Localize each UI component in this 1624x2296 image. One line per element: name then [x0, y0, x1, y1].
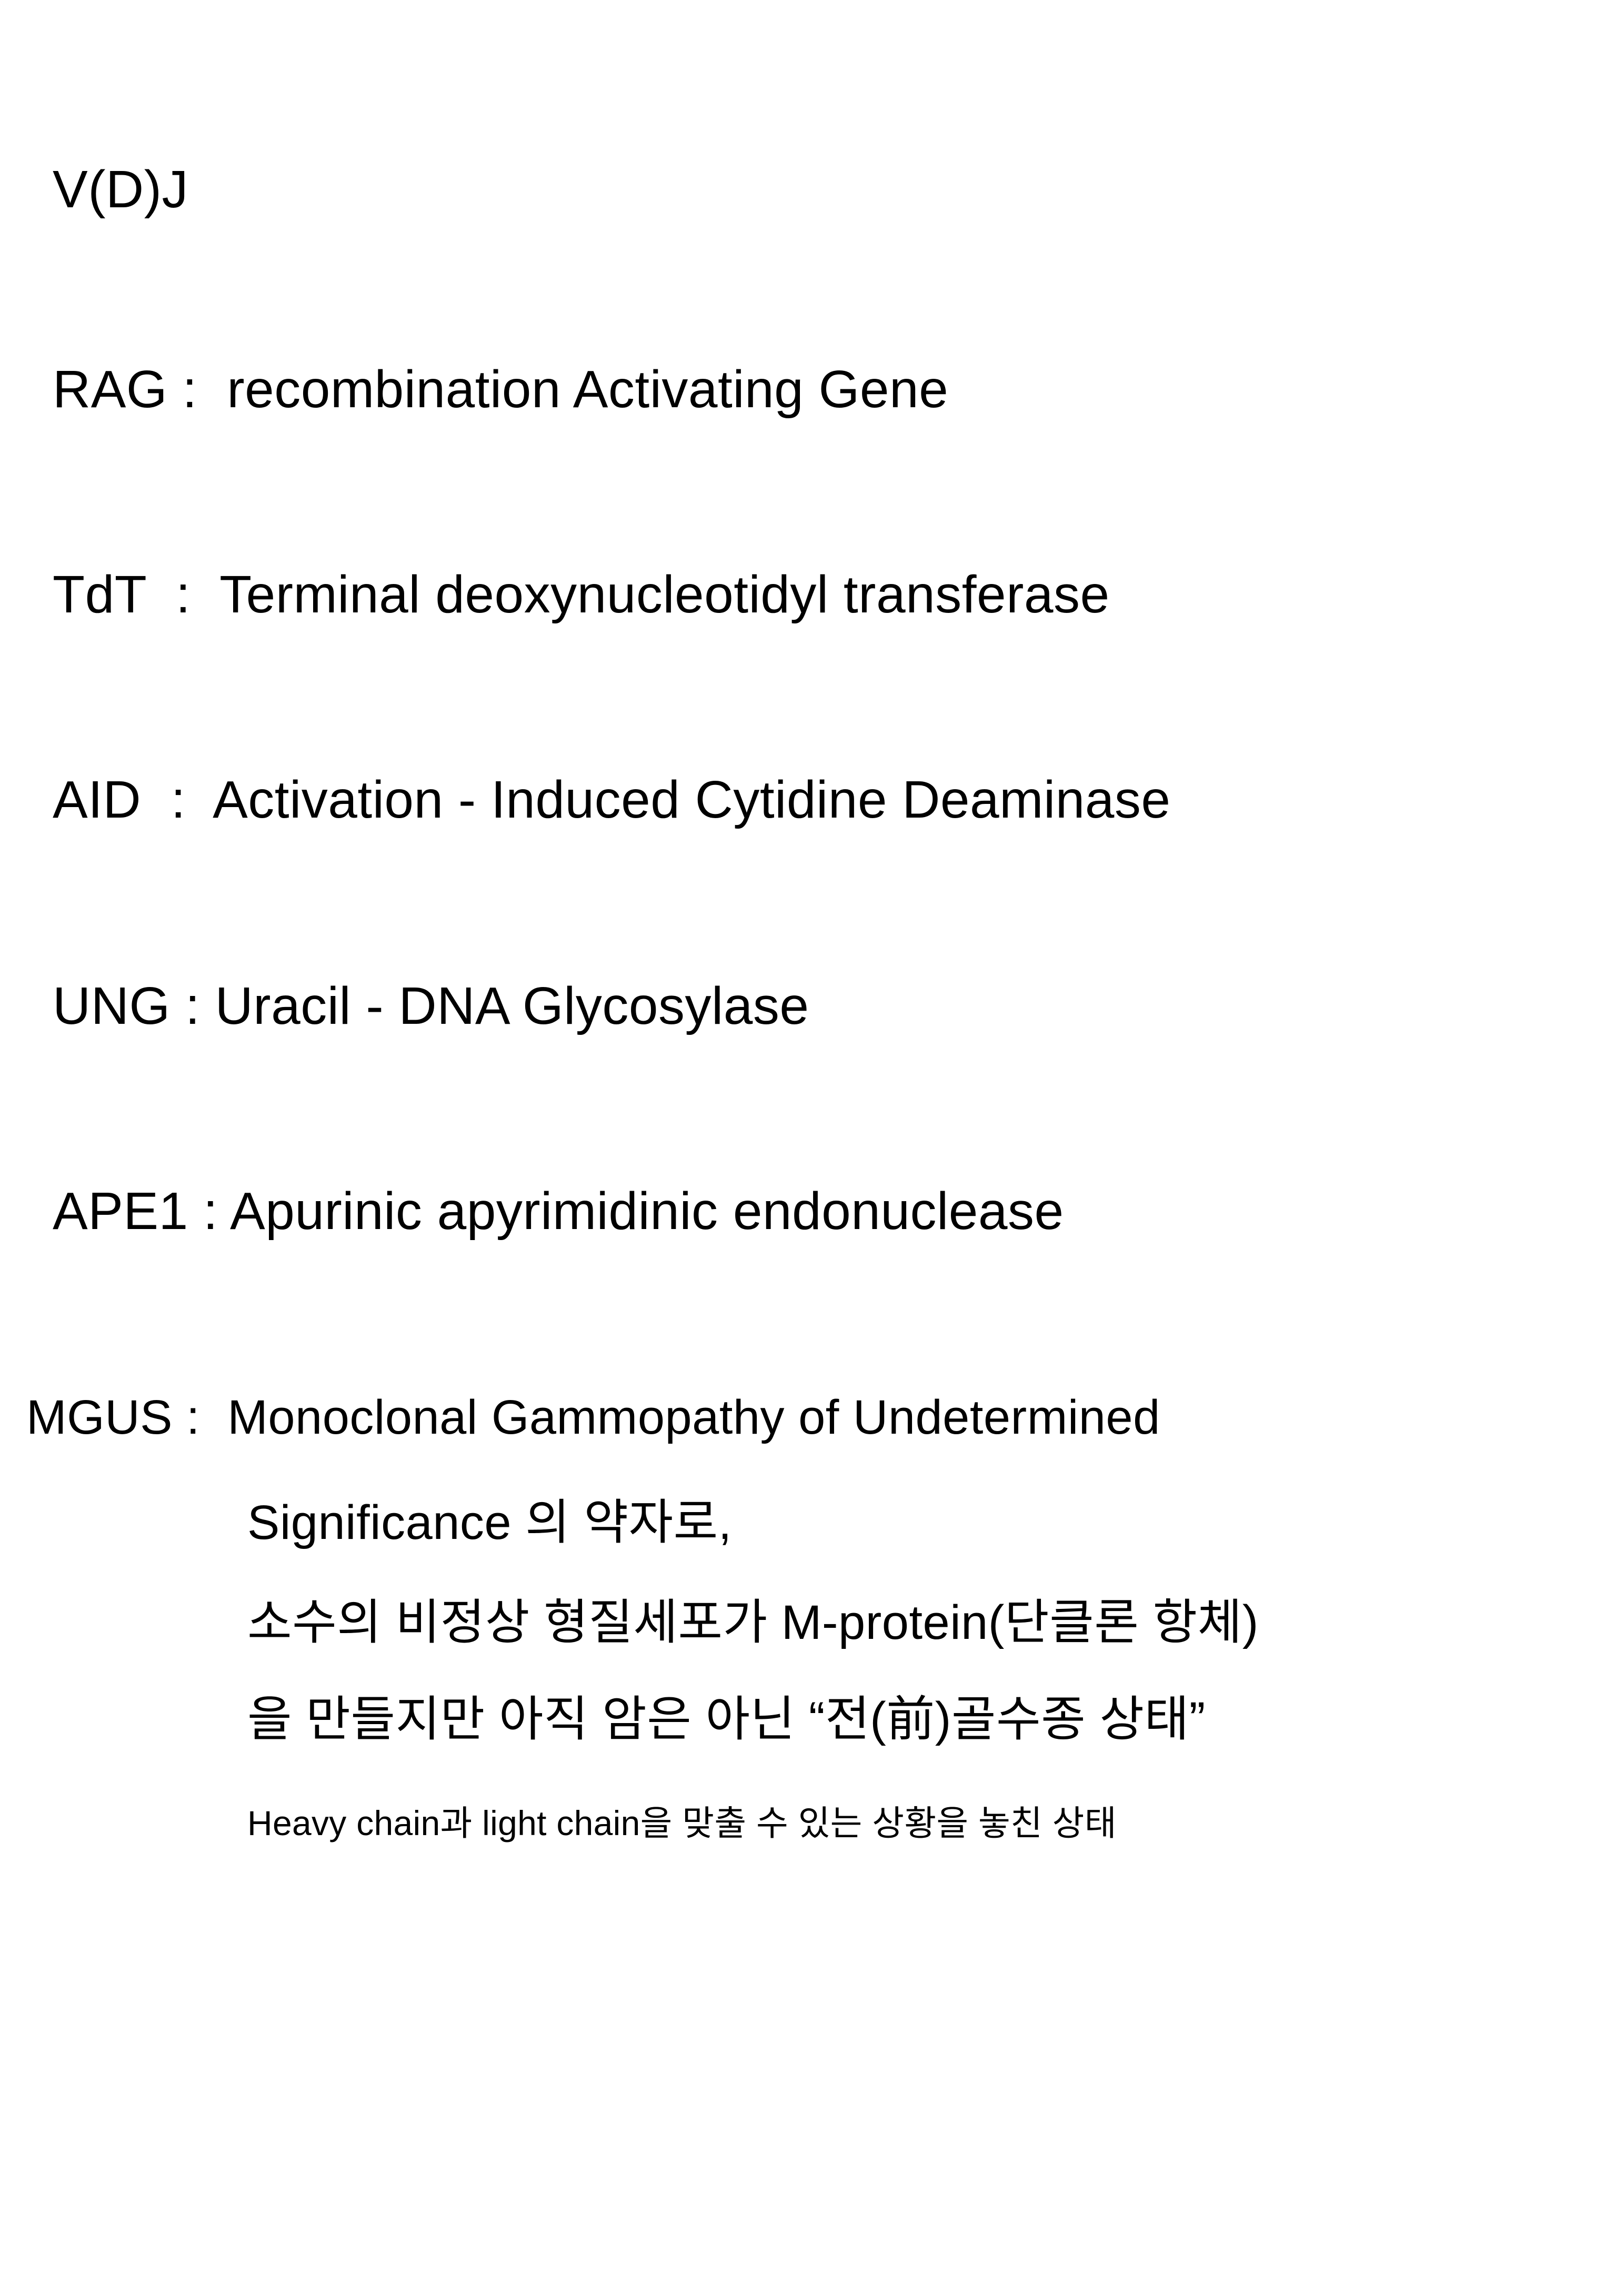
mgus-continuation-line-2: 소수의 비정상 형질세포가 M-protein(단클론 항체): [247, 1598, 1259, 1647]
term-line-aid: AID : Activation - Induced Cytidine Deam…: [53, 773, 1171, 826]
term-line-tdt: TdT : Terminal deoxynucleotidyl transfer…: [53, 568, 1110, 621]
term-line-rag: RAG : recombination Activating Gene: [53, 363, 948, 416]
term-line-mgus-heading: MGUS : Monoclonal Gammopathy of Undeterm…: [26, 1393, 1160, 1442]
term-line-ung: UNG : Uracil - DNA Glycosylase: [53, 980, 809, 1032]
mgus-footnote-line: Heavy chain과 light chain을 맞출 수 있는 상황을 놓친…: [247, 1806, 1117, 1840]
mgus-continuation-line-3: 을 만들지만 아직 암은 아닌 “전(前)골수종 상태”: [247, 1695, 1206, 1744]
mgus-continuation-line-1: Significance 의 약자로,: [247, 1498, 732, 1547]
term-line-vdj: V(D)J: [53, 163, 188, 216]
term-line-ape1: APE1 : Apurinic apyrimidinic endonucleas…: [53, 1185, 1064, 1237]
document-page: V(D)J RAG : recombination Activating Gen…: [0, 0, 1624, 2296]
